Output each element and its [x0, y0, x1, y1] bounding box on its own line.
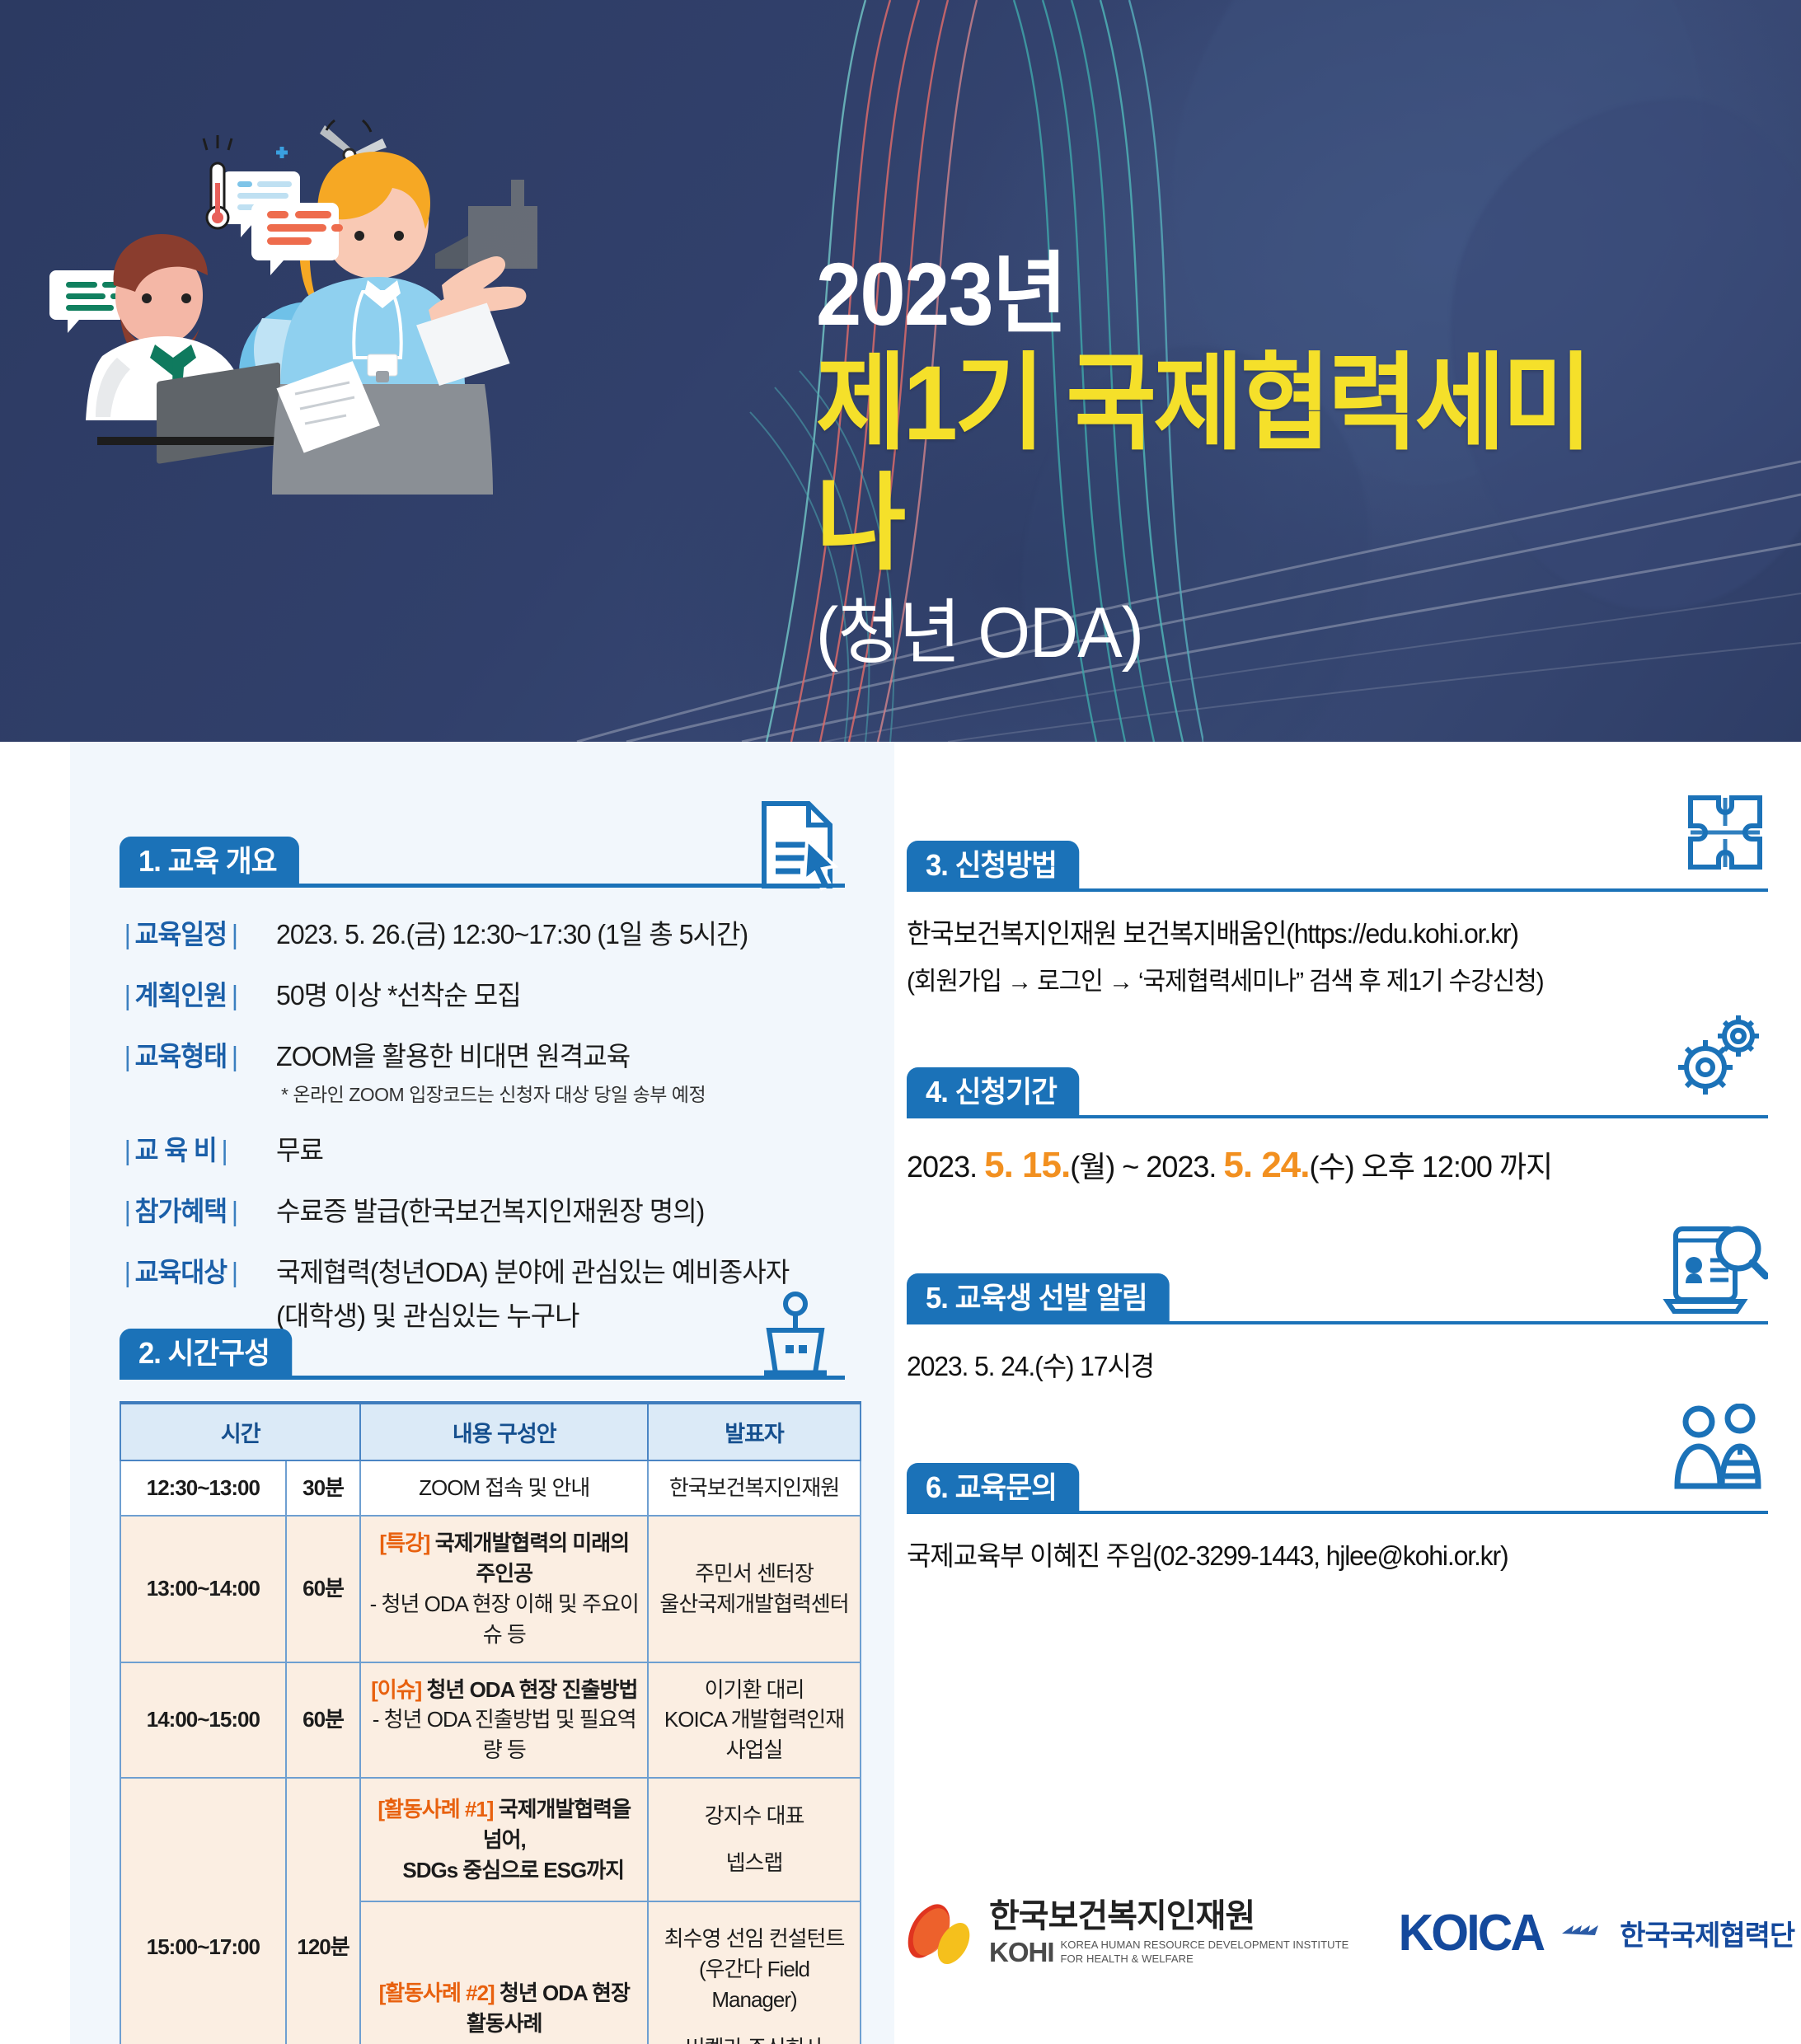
info-label: |참가혜택|	[120, 1189, 269, 1229]
kohi-logo: 한국보건복지인재원 KOHI KOREA HUMAN RESOURCE DEVE…	[907, 1900, 1348, 1966]
info-label-text: 교 육 비	[135, 1135, 217, 1165]
cell-duration: 120분	[286, 1778, 361, 2044]
info-value: 무료	[276, 1128, 323, 1168]
info-label: |교육형태|	[120, 1034, 269, 1074]
info-row: |참가혜택| 수료증 발급(한국보건복지인재원장 명의)	[120, 1189, 845, 1229]
cell-content: [활동사례 #2] 청년 ODA 현장 활동사례	[360, 1901, 648, 2044]
hero-title-block: 2023년 제1기 국제협력세미나 (청년 ODA)	[816, 247, 1723, 676]
speaker-line: 최수영 선임 컨설턴트	[655, 1924, 853, 1954]
cell-duration: 60분	[286, 1516, 361, 1662]
puzzle-icon	[1682, 790, 1768, 888]
period-start-highlight: 5. 15.	[984, 1145, 1070, 1185]
speaker-line: 버켈라 주식회사	[655, 2033, 853, 2044]
speech-bubble-orange-icon	[251, 203, 343, 275]
cell-speaker: 강지수 대표 넵스랩	[648, 1778, 861, 1901]
kohi-english: KOHI KOREA HUMAN RESOURCE DEVELOPMENT IN…	[989, 1939, 1348, 1966]
hero-illustration	[16, 49, 544, 495]
cell-time: 13:00~14:00	[120, 1516, 286, 1662]
selection-notice-line: 2023. 5. 24.(수) 17시경	[907, 1346, 1742, 1387]
footer-logos: 한국보건복지인재원 KOHI KOREA HUMAN RESOURCE DEVE…	[907, 1879, 1801, 1986]
right-column: 3. 신청방법 한국보건복지인재원 보건복지배움인(https://edu.ko…	[907, 742, 1801, 2044]
section-5-selection-notice: 5. 교육생 선발 알림 2023. 5. 24.(수) 17시경	[907, 1273, 1768, 1387]
section-1-header: 1. 교육 개요	[120, 837, 845, 888]
period-suffix: (수) 오후 12:00 까지	[1310, 1150, 1553, 1184]
table-header-row: 시간 내용 구성안 발표자	[120, 1403, 861, 1460]
content-area: 1. 교육 개요 |교육일정|	[0, 742, 1801, 2044]
section-1-info-list: |교육일정| 2023. 5. 26.(금) 12:30~17:30 (1일 총…	[120, 912, 845, 1334]
info-row: |교육대상| 국제협력(청년ODA) 분야에 관심있는 예비종사자 (대학생) …	[120, 1250, 845, 1334]
schedule-table: 시간 내용 구성안 발표자 12:30~13:00 30분 ZOOM 접속 및 …	[120, 1401, 861, 2044]
cell-speaker: 주민서 센터장 울산국제개발협력센터	[648, 1516, 861, 1662]
cell-content-title: 국제개발협력을 넘어,	[483, 1797, 631, 1852]
cell-speaker: 이기환 대리 KOICA 개발협력인재사업실	[648, 1662, 861, 1779]
section-4-apply-period: 4. 신청기간 2023. 5. 15.(월)	[907, 1067, 1768, 1186]
speaker-line: 넵스랩	[655, 1848, 853, 1878]
cell-time: 14:00~15:00	[120, 1662, 286, 1779]
cell-speaker: 한국보건복지인재원	[648, 1460, 861, 1516]
section-6-header: 6. 교육문의	[907, 1463, 1768, 1514]
info-label: |교육대상|	[120, 1250, 269, 1290]
left-panel: 1. 교육 개요 |교육일정|	[70, 742, 894, 2044]
info-note: * 온라인 ZOOM 입장코드는 신청자 대상 당일 송부 예정	[281, 1079, 706, 1107]
info-label: |계획인원|	[120, 973, 269, 1013]
info-label-text: 교육대상	[135, 1257, 227, 1287]
table-row: 14:00~15:00 60분 [이슈] 청년 ODA 현장 진출방법 - 청년…	[120, 1662, 861, 1779]
section-5-title: 5. 교육생 선발 알림	[907, 1273, 1170, 1324]
speaker-line: (우간다 Field Manager)	[655, 1954, 853, 2015]
kohi-korean-name: 한국보건복지인재원	[989, 1900, 1348, 1933]
info-value: 수료증 발급(한국보건복지인재원장 명의)	[276, 1189, 704, 1229]
hero-main-title: 제1기 국제협력세미나	[816, 344, 1659, 584]
apply-method-steps-line: (회원가입 → 로그인 → ‘국제협력세미나” 검색 후 제1기 수강신청)	[907, 963, 1742, 1001]
info-row: |계획인원| 50명 이상 *선착순 모집	[120, 973, 845, 1013]
cell-content: [이슈] 청년 ODA 현장 진출방법 - 청년 ODA 진출방법 및 필요역량…	[360, 1662, 648, 1779]
info-value: 2023. 5. 26.(금) 12:30~17:30 (1일 총 5시간)	[276, 912, 748, 952]
speaker-line: 주민서 센터장	[655, 1559, 853, 1589]
cell-speaker: 최수영 선임 컨설턴트 (우간다 Field Manager) 버켈라 주식회사…	[648, 1901, 861, 2044]
speaker-line: 이기환 대리	[655, 1675, 853, 1705]
table-row: 12:30~13:00 30분 ZOOM 접속 및 안내 한국보건복지인재원	[120, 1460, 861, 1516]
poster-root: 1. 교육 개요 |교육일정|	[0, 0, 1801, 2044]
info-value: 국제협력(청년ODA) 분야에 관심있는 예비종사자	[276, 1250, 789, 1290]
hero-year: 2023년	[816, 247, 1650, 340]
kohi-text: 한국보건복지인재원 KOHI KOREA HUMAN RESOURCE DEVE…	[989, 1900, 1348, 1966]
id-card-search-icon	[1663, 1219, 1768, 1316]
info-row: |교육형태| ZOOM을 활용한 비대면 원격교육 * 온라인 ZOOM 입장코…	[120, 1034, 845, 1107]
cell-duration: 60분	[286, 1662, 361, 1779]
period-end-highlight: 5. 24.	[1223, 1145, 1309, 1185]
info-label: |교육일정|	[120, 912, 269, 952]
section-2-header: 2. 시간구성	[120, 1329, 845, 1380]
document-cursor-icon	[746, 799, 845, 891]
info-row: |교육일정| 2023. 5. 26.(금) 12:30~17:30 (1일 총…	[120, 912, 845, 952]
period-prefix: 2023.	[907, 1150, 984, 1184]
cell-time: 12:30~13:00	[120, 1460, 286, 1516]
podium-speaker-icon	[746, 1291, 845, 1383]
contact-line: 국제교육부 이혜진 주임(02-3299-1443, hjlee@kohi.or…	[907, 1535, 1742, 1577]
hero-subtitle: (청년 ODA)	[816, 591, 1677, 676]
cell-content-title: 국제개발협력의 미래의 주인공	[435, 1531, 629, 1586]
cell-content-title: 청년 ODA 현장 진출방법	[427, 1677, 638, 1702]
cell-content: [특강] 국제개발협력의 미래의 주인공 - 청년 ODA 현장 이해 및 주요…	[360, 1516, 648, 1662]
info-label: |교 육 비|	[120, 1128, 269, 1168]
section-4-title: 4. 신청기간	[907, 1067, 1079, 1118]
table-row: 13:00~14:00 60분 [특강] 국제개발협력의 미래의 주인공 - 청…	[120, 1516, 861, 1662]
section-3-header: 3. 신청방법	[907, 841, 1768, 892]
kohi-abbr: KOHI	[989, 1939, 1054, 1966]
info-label-text: 계획인원	[135, 980, 227, 1010]
kohi-mark-icon	[907, 1901, 974, 1965]
koica-logo: KOICA 한국국제협력단	[1395, 1904, 1794, 1962]
gears-icon	[1661, 1008, 1768, 1107]
kohi-fullname-line1: KOREA HUMAN RESOURCE DEVELOPMENT INSTITU…	[1061, 1939, 1349, 1951]
col-header-speaker: 발표자	[648, 1403, 861, 1460]
section-1-overview: 1. 교육 개요 |교육일정|	[120, 837, 845, 1355]
cell-content-tag: [활동사례 #2]	[379, 1981, 495, 2005]
period-middle: (월) ~ 2023.	[1070, 1150, 1223, 1184]
kohi-fullname: KOREA HUMAN RESOURCE DEVELOPMENT INSTITU…	[1061, 1939, 1349, 1966]
info-row: |교 육 비| 무료	[120, 1128, 845, 1168]
apply-method-url-line: 한국보건복지인재원 보건복지배움인(https://edu.kohi.or.kr…	[907, 913, 1742, 954]
table-row: 15:00~17:00 120분 [활동사례 #1] 국제개발협력을 넘어, S…	[120, 1778, 861, 1901]
cell-content-sub: SDGs 중심으로 ESG까지	[368, 1855, 640, 1886]
speaker-line: 울산국제개발협력센터	[655, 1589, 853, 1620]
cell-content-tag: [이슈]	[371, 1677, 421, 1702]
section-5-header: 5. 교육생 선발 알림	[907, 1273, 1768, 1324]
info-label-text: 참가혜택	[135, 1196, 227, 1226]
section-1-title: 1. 교육 개요	[120, 837, 298, 887]
section-2-schedule: 2. 시간구성 시간 내용 구성안	[120, 1329, 845, 2044]
cell-content-sub: - 청년 ODA 현장 이해 및 주요이슈 등	[368, 1589, 640, 1650]
col-header-content: 내용 구성안	[360, 1403, 648, 1460]
col-header-time: 시간	[120, 1403, 360, 1460]
cell-time: 15:00~17:00	[120, 1778, 286, 2044]
info-value: ZOOM을 활용한 비대면 원격교육	[276, 1034, 692, 1074]
info-value-line2: (대학생) 및 관심있는 누구나	[276, 1294, 804, 1334]
cell-content: ZOOM 접속 및 안내	[360, 1460, 648, 1516]
koica-wordmark: KOICA	[1399, 1904, 1544, 1962]
two-people-icon	[1669, 1404, 1768, 1504]
section-3-apply-method: 3. 신청방법 한국보건복지인재원 보건복지배움인(https://edu.ko…	[907, 841, 1768, 1001]
speaker-line: 강지수 대표	[655, 1801, 853, 1831]
factory-icon	[435, 180, 537, 269]
kohi-fullname-line2: FOR HEALTH & WELFARE	[1061, 1953, 1194, 1965]
section-2-title: 2. 시간구성	[120, 1329, 292, 1379]
section-3-title: 3. 신청방법	[907, 841, 1079, 891]
apply-period-line: 2023. 5. 15.(월) ~ 2023. 5. 24.(수) 오후 12:…	[907, 1143, 1768, 1186]
koica-korean-name: 한국국제협력단	[1620, 1913, 1794, 1953]
cell-content-sub: - 청년 ODA 진출방법 및 필요역량 등	[368, 1704, 640, 1765]
cell-content: [활동사례 #1] 국제개발협력을 넘어, SDGs 중심으로 ESG까지	[360, 1778, 648, 1901]
cell-content-tag: [특강]	[379, 1531, 429, 1555]
info-label-text: 교육일정	[135, 919, 227, 949]
koica-leaf-icon	[1559, 1922, 1608, 1943]
cell-content-tag: [활동사례 #1]	[378, 1797, 493, 1821]
info-value: 50명 이상 *선착순 모집	[276, 973, 521, 1013]
section-4-header: 4. 신청기간	[907, 1067, 1768, 1118]
section-6-title: 6. 교육문의	[907, 1463, 1079, 1513]
cell-duration: 30분	[286, 1460, 361, 1516]
info-label-text: 교육형태	[135, 1041, 227, 1071]
speaker-line: KOICA 개발협력인재사업실	[655, 1704, 853, 1765]
section-6-contact: 6. 교육문의 국제교육부 이혜진 주임(02-3299-1443, hjlee…	[907, 1463, 1768, 1577]
